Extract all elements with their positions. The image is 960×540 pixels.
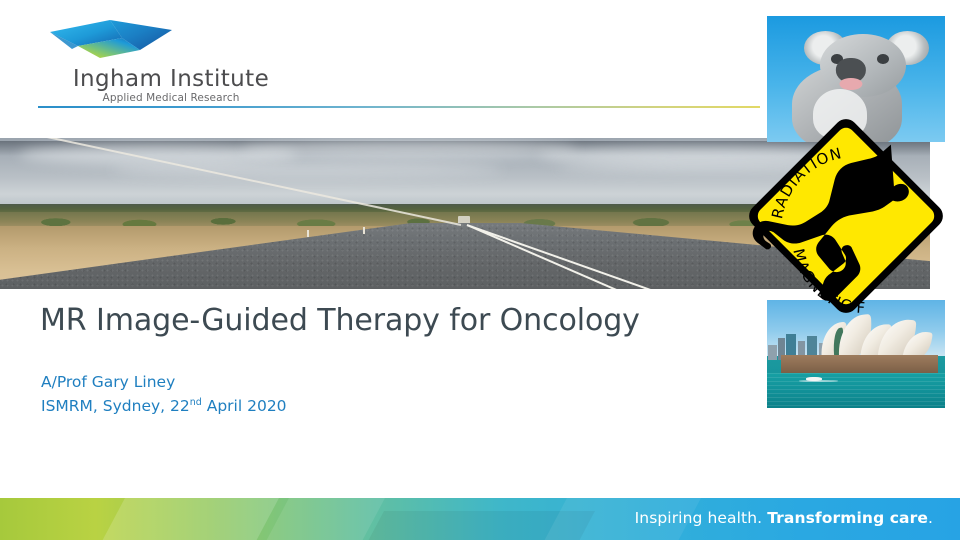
radiation-magnetic-field-kangaroo-sign: RADIATION MAGNETIC FIELD: [743, 113, 949, 319]
logo-tagline: Applied Medical Research: [46, 92, 296, 104]
tagline-light-part: Inspiring health.: [635, 509, 768, 527]
presenter-name: A/Prof Gary Liney: [41, 372, 175, 392]
footer-tagline: Inspiring health. Transforming care.: [635, 509, 933, 527]
footer-facet: [94, 498, 288, 540]
footer-band: Inspiring health. Transforming care.: [0, 498, 960, 540]
tagline-period: .: [928, 509, 933, 527]
event-prefix: ISMRM, Sydney, 22: [41, 397, 190, 415]
header-divider-rule: [38, 106, 760, 108]
page-title: MR Image-Guided Therapy for Oncology: [40, 303, 720, 339]
event-ordinal-suffix: nd: [190, 397, 202, 408]
event-suffix: April 2020: [202, 397, 287, 415]
presentation-slide: Ingham Institute Applied Medical Researc…: [0, 0, 960, 540]
logo-wordmark: Ingham Institute: [46, 66, 296, 92]
ingham-institute-ribbon-mark: [48, 16, 184, 68]
event-details: ISMRM, Sydney, 22nd April 2020: [41, 396, 287, 416]
tagline-bold-part: Transforming care: [767, 509, 928, 527]
ingham-institute-logo: Ingham Institute Applied Medical Researc…: [38, 16, 298, 108]
